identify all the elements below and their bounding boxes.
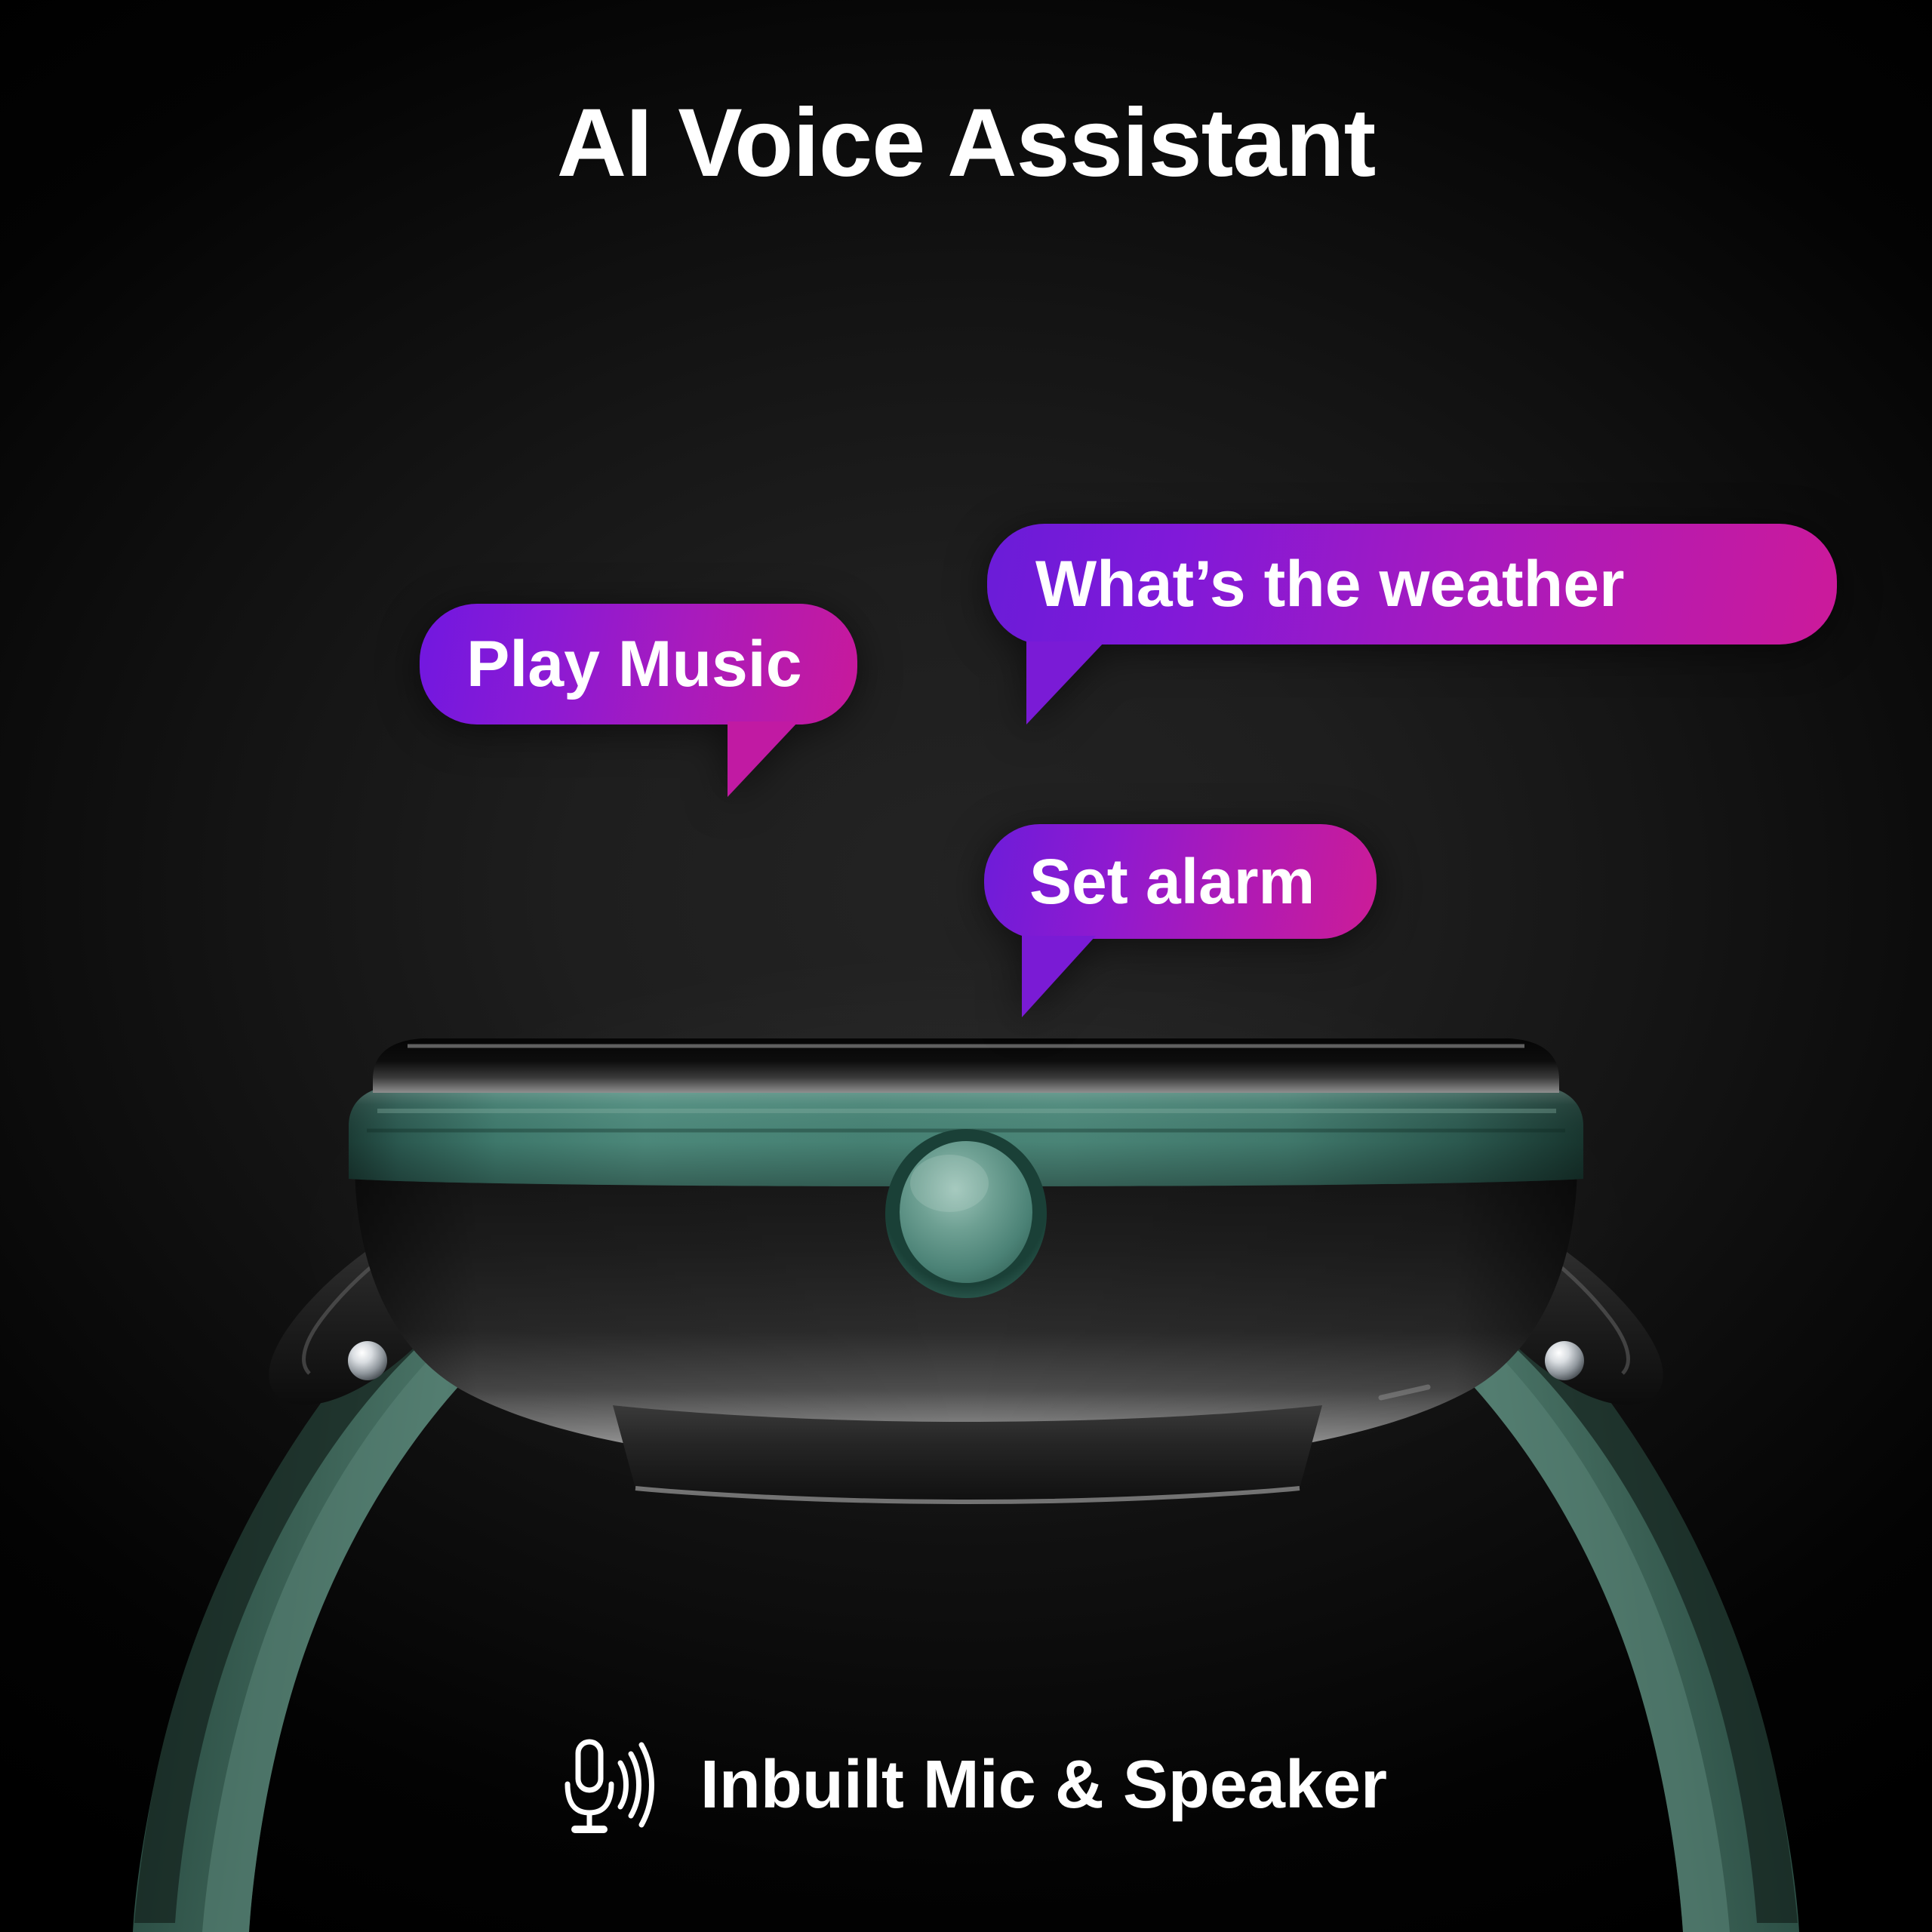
- watch-lug-right: [1446, 1203, 1663, 1405]
- caption-text: Inbuilt Mic & Speaker: [700, 1746, 1387, 1824]
- watch-metal-frame: [349, 1087, 1583, 1186]
- product-feature-slide: AI Voice Assistant: [0, 0, 1932, 1932]
- page-title: AI Voice Assistant: [0, 91, 1932, 197]
- voice-command-bubble-set-alarm[interactable]: Set alarm: [984, 824, 1377, 939]
- voice-command-label: Set alarm: [1029, 845, 1315, 918]
- microphone-with-soundwaves-icon: [545, 1728, 658, 1841]
- bubble-tail-icon: [728, 721, 798, 797]
- strap-pin-left: [348, 1341, 387, 1380]
- voice-command-label: Play Music: [466, 627, 802, 702]
- voice-command-label: What’s the weather: [1035, 547, 1625, 622]
- watch-case-body: [355, 1162, 1577, 1470]
- voice-command-bubble-weather[interactable]: What’s the weather: [987, 524, 1837, 645]
- smartwatch-illustration: [0, 0, 1932, 1932]
- strap-pin-right: [1545, 1341, 1584, 1380]
- watch-sensor-hump: [613, 1405, 1322, 1502]
- watch-crown-button[interactable]: [885, 1129, 1047, 1298]
- bubble-tail-icon: [1022, 936, 1096, 1017]
- watch-ambient-glow: [287, 951, 1645, 1524]
- voice-command-bubble-play-music[interactable]: Play Music: [420, 604, 857, 724]
- watch-lug-left: [269, 1203, 486, 1405]
- watch-display-edge: [373, 1038, 1559, 1093]
- feature-caption: Inbuilt Mic & Speaker: [0, 1728, 1932, 1841]
- bubble-tail-icon: [1026, 641, 1105, 724]
